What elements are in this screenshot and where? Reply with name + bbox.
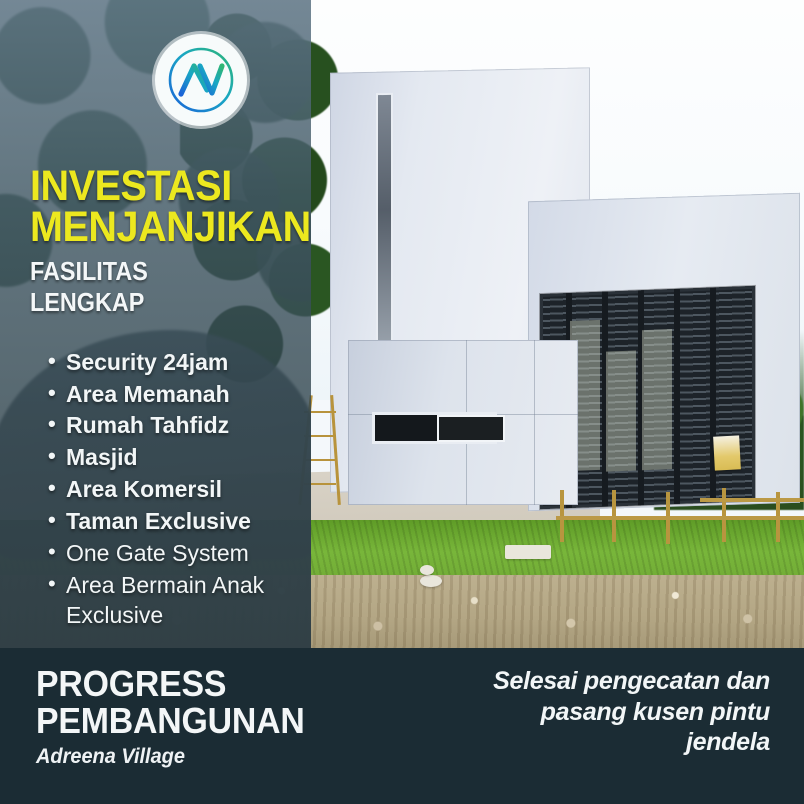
page-title: INVESTASI MENJANJIKAN (30, 166, 266, 248)
list-item: Taman Exclusive (48, 507, 287, 537)
debris (420, 575, 442, 587)
list-item: Area Bermain Anak Exclusive (48, 571, 287, 631)
headline-line-2: MENJANJIKAN (30, 207, 266, 248)
site-rail (700, 498, 804, 502)
bottom-bar: PROGRESS PEMBANGUNAN Adreena Village Sel… (0, 648, 804, 804)
list-item: Rumah Tahfidz (48, 411, 287, 441)
progress-title-line-2: PEMBANGUNAN (36, 703, 305, 740)
site-rail (556, 516, 804, 520)
list-item: Area Memanah (48, 380, 287, 410)
status-note: Selesai pengecatan dan pasang kusen pint… (450, 666, 770, 758)
av-monogram-logo (155, 34, 247, 126)
debris (505, 545, 551, 559)
list-item: Security 24jam (48, 348, 287, 378)
list-item: Masjid (48, 443, 287, 473)
left-panel-content: INVESTASI MENJANJIKAN FASILITAS LENGKAP … (0, 0, 311, 648)
list-item: One Gate System (48, 539, 287, 569)
vertical-slot-window (378, 95, 391, 350)
progress-title-line-1: PROGRESS (36, 666, 305, 703)
bottom-bar-left: PROGRESS PEMBANGUNAN Adreena Village (36, 666, 322, 769)
feature-list: Security 24jam Area Memanah Rumah Tahfid… (30, 348, 287, 631)
debris (420, 565, 434, 575)
project-name: Adreena Village (36, 745, 308, 769)
list-item: Area Komersil (48, 475, 287, 505)
site-stake (722, 488, 726, 542)
window-right (437, 415, 505, 442)
promo-poster: INVESTASI MENJANJIKAN FASILITAS LENGKAP … (0, 0, 804, 804)
subheadline: FASILITAS LENGKAP (30, 256, 261, 318)
notice-paper (713, 435, 741, 470)
